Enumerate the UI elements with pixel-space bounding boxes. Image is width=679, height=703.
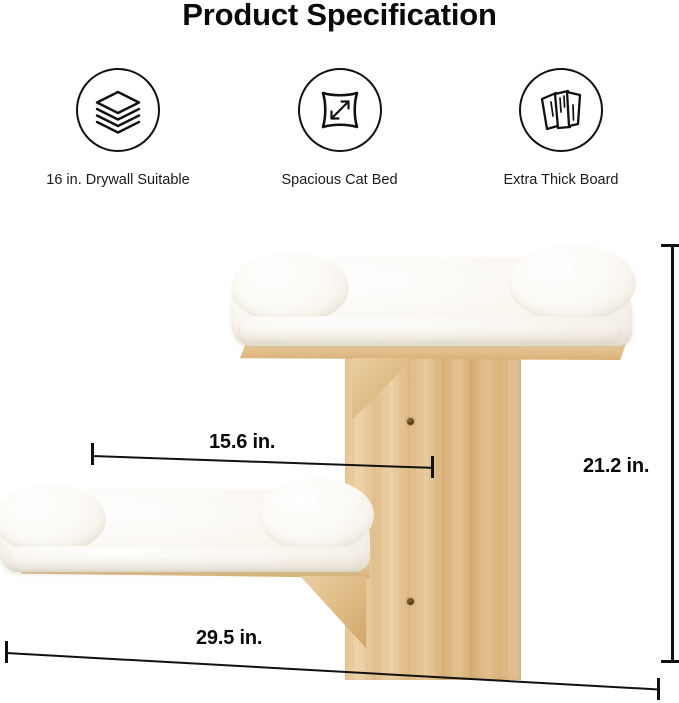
feature-item-drywall: 16 in. Drywall Suitable: [22, 68, 214, 189]
feature-item-thick-board: Extra Thick Board: [465, 68, 657, 189]
feature-label-thick-board: Extra Thick Board: [504, 171, 619, 189]
feature-item-cat-bed: Spacious Cat Bed: [244, 68, 436, 189]
upper-bolster-right: [508, 244, 636, 322]
page-title: Product Specification: [0, 0, 679, 35]
dimension-cap-depth-right: [431, 456, 434, 478]
feature-row: 16 in. Drywall Suitable Spacious Cat Bed: [0, 68, 679, 189]
lower-bolster-right: [258, 478, 374, 552]
dimension-cap-width-left: [5, 641, 8, 663]
feature-label-cat-bed: Spacious Cat Bed: [281, 171, 397, 189]
lower-plush-front-edge: [10, 546, 360, 570]
dimension-line-width: [6, 652, 659, 691]
cushion-resize-icon: [298, 68, 382, 152]
screw-hole-upper: [407, 418, 414, 425]
dimension-cap-depth-left: [91, 443, 94, 465]
dimension-label-width: 29.5 in.: [196, 627, 262, 650]
dimension-label-height: 21.2 in.: [583, 455, 649, 478]
feature-label-drywall: 16 in. Drywall Suitable: [46, 171, 189, 189]
dimension-line-height: [671, 245, 674, 662]
upper-plush-front-edge: [240, 316, 620, 342]
dimension-cap-height-bottom: [661, 660, 679, 663]
layers-stack-icon: [76, 68, 160, 152]
screw-hole-lower: [407, 598, 414, 605]
product-illustration: 15.6 in. 21.2 in. 29.5 in.: [0, 228, 679, 703]
dimension-cap-width-right: [657, 678, 660, 700]
dimension-label-depth: 15.6 in.: [209, 431, 275, 454]
upper-bolster-left: [231, 252, 349, 324]
wood-planks-icon: [519, 68, 603, 152]
dimension-cap-height-top: [661, 244, 679, 247]
